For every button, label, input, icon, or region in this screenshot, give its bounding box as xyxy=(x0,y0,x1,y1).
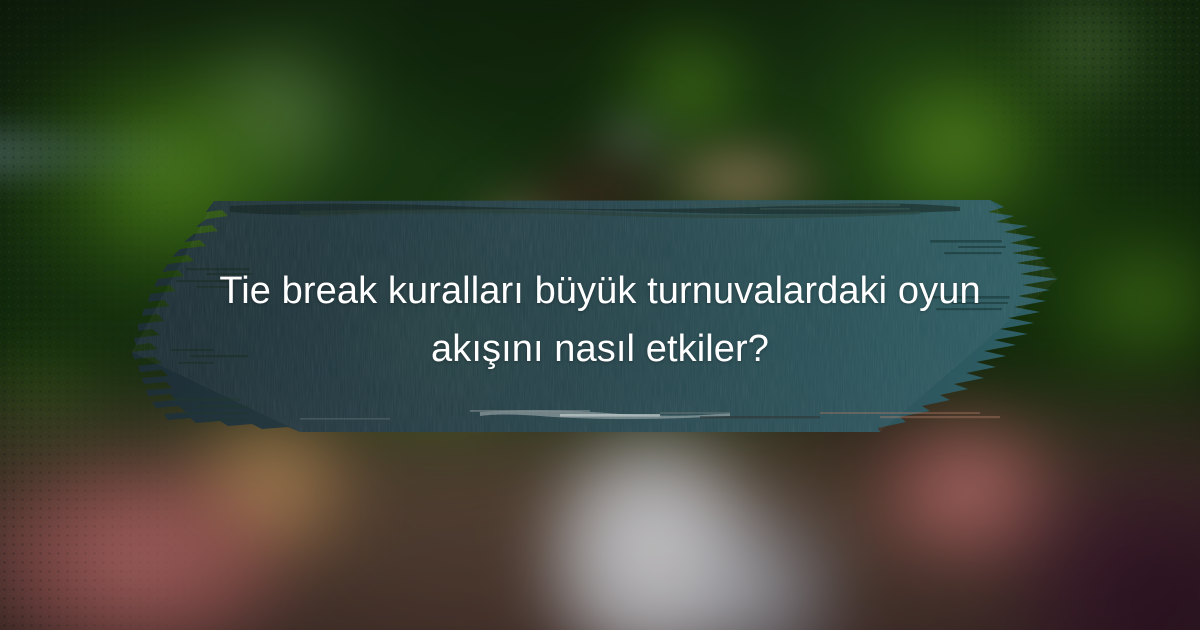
social-card-canvas: Tie break kuralları büyük turnuvalardaki… xyxy=(0,0,1200,630)
headline-text: Tie break kuralları büyük turnuvalardaki… xyxy=(195,262,1005,378)
